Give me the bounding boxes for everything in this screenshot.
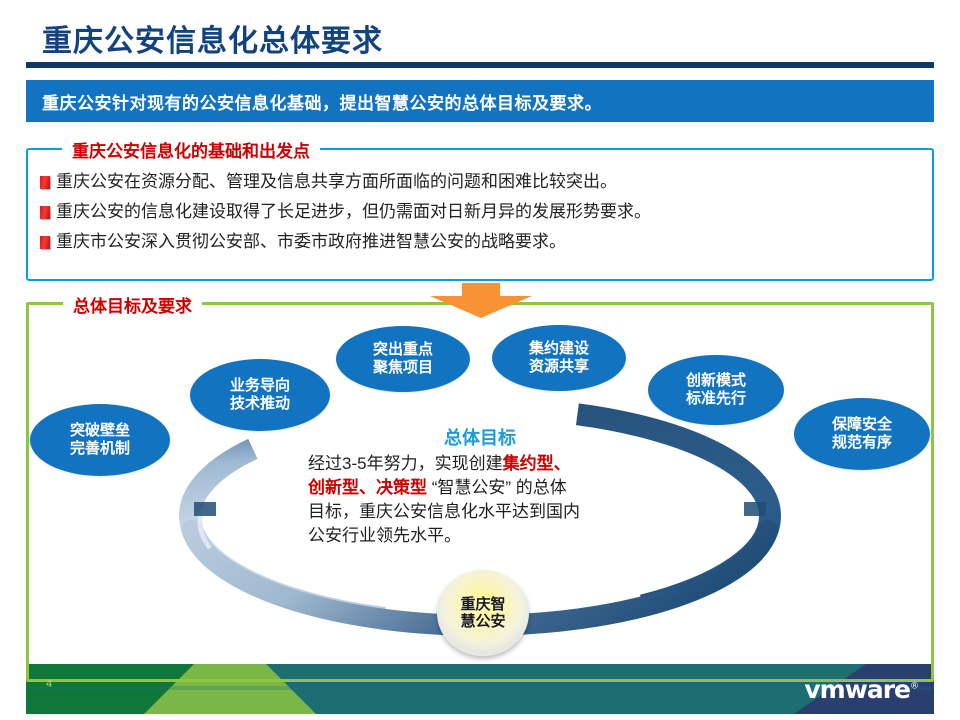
bubble-line-1: 集约建设 [529,340,589,358]
bubble-line-2: 标准先行 [686,390,746,408]
goal-text-emphasis-1: 集约型、 [503,454,571,473]
page-number: 4 [46,678,52,690]
registered-mark-icon: ® [910,682,918,692]
bubble-intensive-construction[interactable]: 集约建设 资源共享 [492,325,626,391]
list-item-text: 重庆市公安深入贯彻公安部、市委市政府推进智慧公安的战略要求。 [56,230,566,254]
list-item-text: 重庆公安的信息化建设取得了长足进步，但仍需面对日新月异的发展形势要求。 [56,200,651,224]
sphere-line-2: 慧公安 [460,613,505,630]
bubble-line-1: 业务导向 [230,377,290,395]
bubble-line-2: 规范有序 [832,434,892,452]
bubble-line-1: 突破壁垒 [70,422,130,440]
bubble-line-2: 技术推动 [230,395,290,413]
bubble-line-1: 创新模式 [686,372,746,390]
bubble-security-assurance[interactable]: 保障安全 规范有序 [794,398,930,470]
overall-goal-body: 经过3-5年努力，实现创建集约型、创新型、决策型 “智慧公安” 的总体目标，重庆… [290,452,670,549]
goal-text-part-2: “智慧公安” 的总体 [427,478,567,497]
list-item: 重庆市公安深入贯彻公安部、市委市政府推进智慧公安的战略要求。 [40,230,920,254]
basis-bullet-list: 重庆公安在资源分配、管理及信息共享方面所面临的问题和困难比较突出。 重庆公安的信… [40,170,920,260]
goal-text-part-1: 经过3-5年努力，实现创建 [308,454,503,473]
vmware-wordmark: vmware [804,675,910,704]
bubble-business-oriented[interactable]: 业务导向 技术推动 [190,359,330,431]
bubble-line-1: 保障安全 [832,416,892,434]
down-arrow-icon [426,283,536,319]
list-item: 重庆公安的信息化建设取得了长足进步，但仍需面对日新月异的发展形势要求。 [40,200,920,224]
basis-panel: 重庆公安信息化的基础和出发点 重庆公安在资源分配、管理及信息共享方面所面临的问题… [26,148,934,281]
square-bullet-icon [40,176,50,189]
bubble-line-1: 突出重点 [373,341,433,359]
vmware-logo: vmware® [804,675,918,704]
overall-goal-block: 总体目标 经过3-5年努力，实现创建集约型、创新型、决策型 “智慧公安” 的总体… [290,424,670,549]
square-bullet-icon [40,236,50,249]
goal-panel-legend: 总体目标及要求 [63,292,202,317]
summary-banner: 重庆公安针对现有的公安信息化基础，提出智慧公安的总体目标及要求。 [26,80,934,122]
summary-banner-text: 重庆公安针对现有的公安信息化基础，提出智慧公安的总体目标及要求。 [42,89,602,114]
list-item-text: 重庆公安在资源分配、管理及信息共享方面所面临的问题和困难比较突出。 [56,170,617,194]
bubble-line-2: 聚焦项目 [373,359,433,377]
goal-text-part-4: 公安行业领先水平。 [308,526,461,545]
basis-panel-legend: 重庆公安信息化的基础和出发点 [62,137,320,162]
slide-canvas: 重庆公安信息化总体要求 重庆公安针对现有的公安信息化基础，提出智慧公安的总体目标… [0,0,960,720]
goal-text-part-3: 目标，重庆公安信息化水平达到国内 [308,502,580,521]
bubble-innovation-standards[interactable]: 创新模式 标准先行 [648,355,784,425]
list-item: 重庆公安在资源分配、管理及信息共享方面所面临的问题和困难比较突出。 [40,170,920,194]
sphere-line-1: 重庆智 [460,596,505,613]
bubble-line-2: 完善机制 [70,440,130,458]
goal-text-emphasis-2: 创新型、决策型 [308,478,427,497]
bubble-line-2: 资源共享 [529,358,589,376]
title-underline-rule [26,62,934,68]
page-title: 重庆公安信息化总体要求 [42,16,383,60]
bubble-key-focus-projects[interactable]: 突出重点 聚焦项目 [336,326,470,392]
square-bullet-icon [40,206,50,219]
overall-goal-heading: 总体目标 [290,424,670,450]
core-sphere-chongqing-smart-police[interactable]: 重庆智 慧公安 [437,570,529,656]
bubble-breakthrough-barriers[interactable]: 突破壁垒 完善机制 [30,404,170,476]
